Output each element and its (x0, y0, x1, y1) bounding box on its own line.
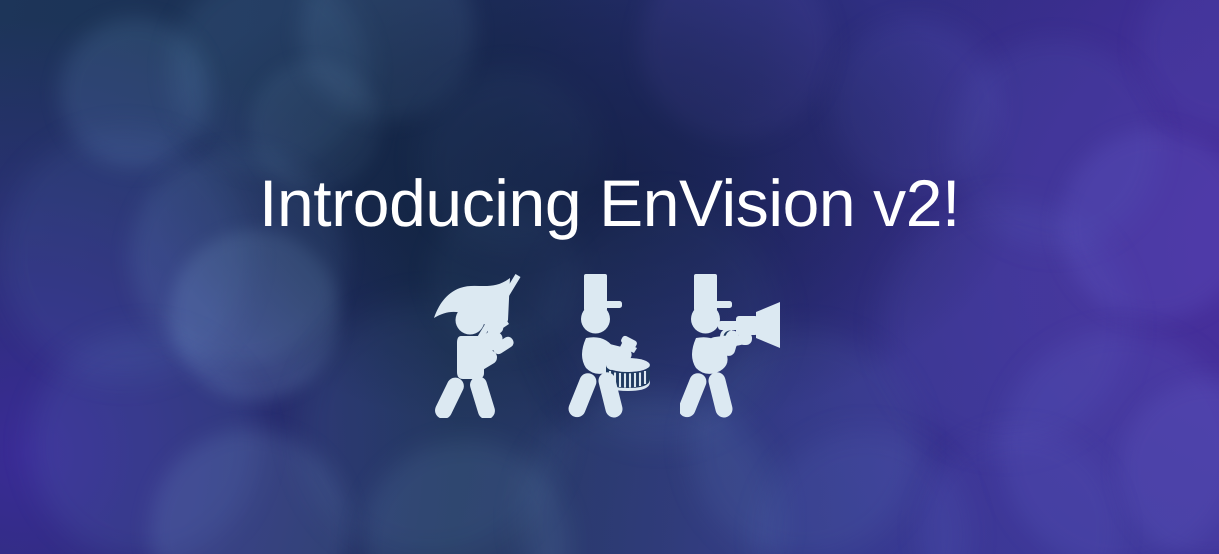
trumpeter-figure (680, 272, 788, 418)
marching-band-illustration (0, 272, 1219, 418)
announcement-banner: Introducing EnVision v2! (0, 0, 1219, 554)
drummer-figure (566, 272, 658, 418)
page-title: Introducing EnVision v2! (259, 170, 960, 236)
headline-container: Introducing EnVision v2! (0, 170, 1219, 236)
flag-bearer-figure (432, 272, 544, 418)
